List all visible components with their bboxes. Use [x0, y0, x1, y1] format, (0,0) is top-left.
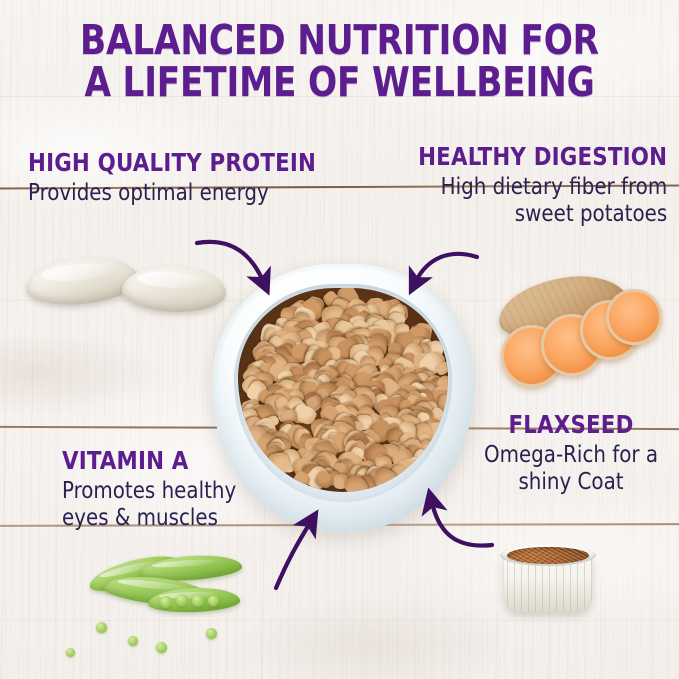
callout-title: HEALTHY DIGESTION: [418, 144, 667, 170]
headline-line-2: A LIFETIME OF WELLBEING: [24, 62, 655, 104]
callout-title: VITAMIN A: [62, 448, 234, 474]
loose-pea: [206, 628, 217, 639]
callout-vitamin-a: VITAMIN A Promotes healthy eyes & muscle…: [62, 448, 243, 532]
plank-seam-faint-3: [0, 620, 679, 621]
headline-line-1: BALANCED NUTRITION FOR: [80, 16, 599, 64]
callout-flaxseed: FLAXSEED Omega-Rich for a shiny Coat: [468, 412, 674, 496]
callout-title: HIGH QUALITY PROTEIN: [28, 150, 316, 176]
kibble-bowl-image: [212, 264, 474, 532]
callout-high-quality-protein: HIGH QUALITY PROTEIN Provides optimal en…: [28, 150, 331, 207]
loose-pea: [156, 642, 167, 653]
loose-pea: [96, 622, 107, 633]
sweet-potato-slice: [606, 289, 662, 345]
callout-subtitle: Provides optimal energy: [28, 180, 319, 207]
callout-subtitle: High dietary fiber from sweet potatoes: [415, 174, 667, 227]
callout-title: FLAXSEED: [473, 412, 669, 438]
callout-subtitle: Promotes healthy eyes & muscles: [62, 478, 236, 531]
loose-pea: [128, 636, 138, 646]
page-title: BALANCED NUTRITION FOR A LIFETIME OF WEL…: [24, 20, 655, 104]
kibble-pile: [238, 288, 448, 492]
flaxseed-ramekin-image: [500, 538, 596, 612]
flaxseed-fill: [507, 547, 589, 564]
callout-healthy-digestion: HEALTHY DIGESTION High dietary fiber fro…: [405, 144, 667, 228]
loose-pea: [66, 648, 75, 657]
nutrition-infographic: BALANCED NUTRITION FOR A LIFETIME OF WEL…: [0, 0, 679, 679]
callout-subtitle: Omega-Rich for a shiny Coat: [472, 442, 670, 495]
